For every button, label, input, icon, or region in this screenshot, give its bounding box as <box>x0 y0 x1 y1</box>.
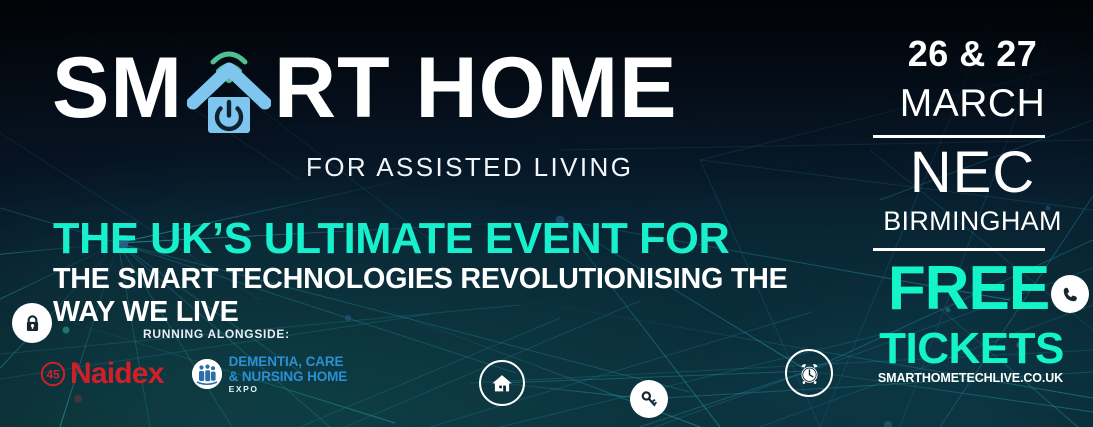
dementia-care-people-roundel-icon <box>192 359 222 389</box>
alarm-clock-icon <box>785 349 833 397</box>
free-tickets-line-1[interactable]: FREE <box>862 258 1075 320</box>
free-tickets-line-2[interactable]: TICKETS <box>862 327 1081 371</box>
event-venue: NEC <box>862 144 1083 202</box>
smart-home-logo: SM <box>52 40 678 136</box>
logo-text-after-icon: RT HOME <box>274 47 678 130</box>
panel-divider-bottom <box>873 248 1045 251</box>
event-dates: 26 & 27 <box>862 36 1083 72</box>
event-details-panel: 26 & 27 MARCH NEC BIRMINGHAM FREE TICKET… <box>862 0 1093 427</box>
event-website-url[interactable]: SMARTHOMETECHLIVE.CO.UK <box>862 372 1079 385</box>
svg-text:45: 45 <box>46 368 60 382</box>
key-icon <box>630 380 668 418</box>
event-month: MARCH <box>862 84 1083 123</box>
dementia-logo-line-2: & NURSING HOME <box>229 370 348 384</box>
naidex-wordmark: Naidex <box>70 359 164 389</box>
dementia-logo-line-3: EXPO <box>229 385 348 394</box>
phone-handset-icon <box>1051 275 1089 313</box>
padlock-icon <box>12 303 52 343</box>
naidex-45-roundel-icon: 45 <box>40 361 66 387</box>
headline-primary: THE UK’S ULTIMATE EVENT FOR <box>53 214 729 264</box>
partner-logo-group: 45 Naidex <box>40 355 347 394</box>
event-city: BIRMINGHAM <box>862 208 1083 235</box>
running-alongside-label: RUNNING ALONGSIDE: <box>143 327 290 341</box>
headline-secondary: THE SMART TECHNOLOGIES REVOLUTIONISING T… <box>53 263 852 329</box>
house-icon <box>479 360 525 406</box>
panel-divider-top <box>873 135 1045 138</box>
logo-text-before-icon: SM <box>52 47 183 130</box>
left-content-column: SM <box>0 0 860 427</box>
smart-home-house-wifi-power-icon <box>187 40 271 136</box>
logo-subtitle: FOR ASSISTED LIVING <box>306 152 633 183</box>
partner-logo-dementia-care-expo[interactable]: DEMENTIA, CARE & NURSING HOME EXPO <box>192 355 348 394</box>
smart-home-event-banner: SM <box>0 0 1093 427</box>
partner-logo-naidex[interactable]: 45 Naidex <box>40 359 164 389</box>
dementia-logo-line-1: DEMENTIA, CARE <box>229 355 348 369</box>
